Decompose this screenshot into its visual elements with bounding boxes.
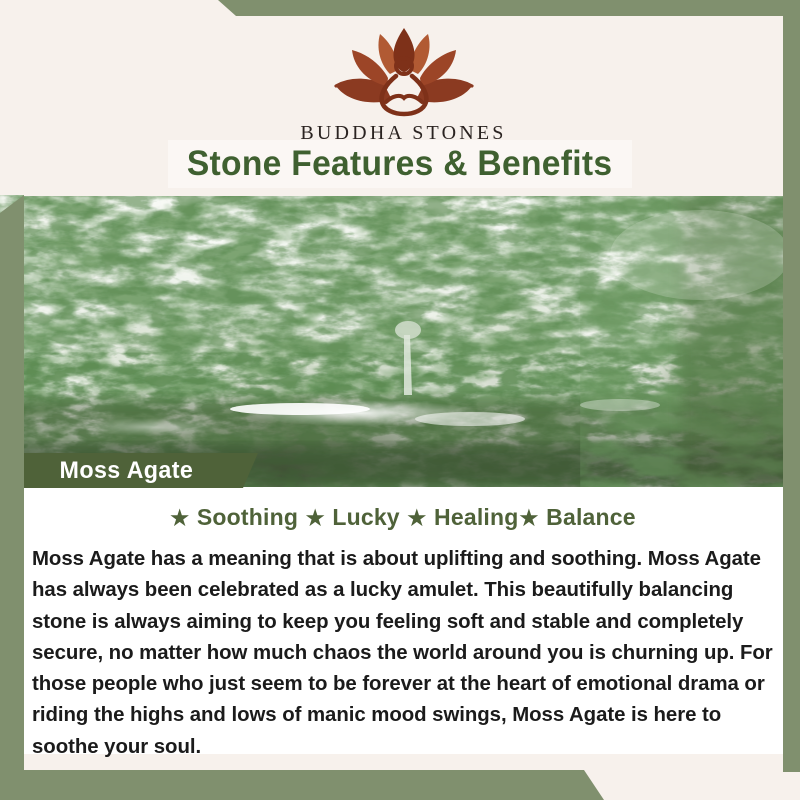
star-icon: ★ — [407, 507, 426, 530]
frame-accent-right — [783, 14, 800, 772]
content-panel: ★ Soothing ★ Lucky ★ Healing★ Balance Mo… — [24, 487, 783, 754]
keyword-soothing: Soothing — [196, 504, 299, 530]
star-icon: ★ — [520, 507, 539, 530]
page-title: Stone Features & Benefits — [187, 144, 612, 184]
stone-name-tag: Moss Agate — [24, 453, 258, 488]
star-icon: ★ — [306, 507, 325, 530]
stone-photo — [0, 195, 800, 487]
keyword-healing: Healing — [433, 504, 519, 530]
stone-description: Moss Agate has a meaning that is about u… — [32, 544, 773, 763]
keyword-list: ★ Soothing ★ Lucky ★ Healing★ Balance — [24, 504, 783, 531]
lotus-meditation-icon — [324, 26, 484, 118]
keyword-balance: Balance — [545, 504, 637, 530]
frame-accent-left — [0, 195, 24, 800]
brand-logo: BUDDHA STONES — [24, 26, 783, 145]
keyword-lucky: Lucky — [331, 504, 400, 530]
moss-agate-texture-icon — [0, 195, 800, 487]
frame-accent-top — [0, 0, 800, 16]
stone-name-label: Moss Agate — [27, 457, 194, 485]
product-info-poster: BUDDHA STONES Stone Features & Benefits … — [0, 0, 800, 800]
section-title-band: Stone Features & Benefits — [168, 140, 632, 188]
star-icon: ★ — [170, 507, 189, 530]
